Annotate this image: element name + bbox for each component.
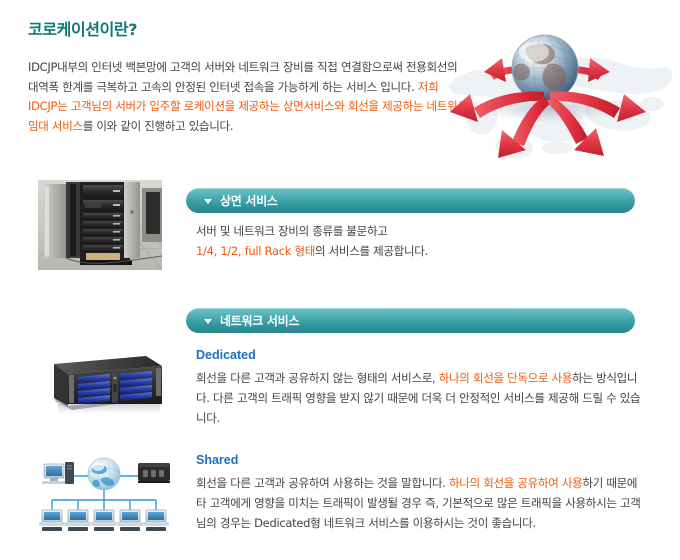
globe-sphere <box>512 35 578 101</box>
section-header-network[interactable]: 네트워크 서비스 <box>186 308 635 333</box>
dedicated-block: Dedicated 회선을 다른 고객과 공유하지 않는 형태의 서비스로, 하… <box>196 345 641 428</box>
section-header-colocation[interactable]: 상면 서비스 <box>186 188 635 213</box>
globe-node <box>88 458 120 490</box>
dedicated-text-part-1: 회선을 다른 고객과 공유하지 않는 형태의 서비스로, <box>196 371 439 385</box>
dedicated-highlight: 하나의 회선을 단독으로 사용 <box>439 371 572 385</box>
colocation-highlight: 1/4, 1/2, full Rack 형태 <box>196 244 315 258</box>
colocation-line-1: 서버 및 네트워크 장비의 종류를 불문하고 <box>196 224 388 238</box>
intro-text-part-3: 를 이와 같이 진행하고 있습니다. <box>83 119 233 133</box>
colocation-line-2-rest: 의 서비스를 제공합니다. <box>315 244 428 258</box>
shared-highlight: 하나의 회선을 공유하여 사용 <box>449 476 582 490</box>
colocation-description: 서버 및 네트워크 장비의 종류를 불문하고 1/4, 1/2, full Ra… <box>196 221 626 261</box>
shared-block: Shared 회선을 다른 고객과 공유하여 사용하는 것을 말합니다. 하나의… <box>196 450 641 533</box>
shared-heading: Shared <box>196 450 641 470</box>
intro-paragraph: IDCJP내부의 인터넷 백본망에 고객의 서버와 네트워크 장비를 직접 연결… <box>28 58 468 136</box>
shared-text-part-1: 회선을 다른 고객과 공유하여 사용하는 것을 말합니다. <box>196 476 449 490</box>
rackmount-server-photo <box>38 348 168 420</box>
section-header-label: 네트워크 서비스 <box>220 312 299 329</box>
network-topology-diagram <box>30 448 178 540</box>
globe-with-arrows-graphic <box>440 8 680 168</box>
switch-node <box>138 463 170 483</box>
section-header-label: 상면 서비스 <box>220 192 278 209</box>
chevron-down-icon <box>204 319 212 324</box>
laptop-nodes <box>39 510 169 531</box>
intro-text-part-1: IDCJP내부의 인터넷 백본망에 고객의 서버와 네트워크 장비를 직접 연결… <box>28 60 457 94</box>
chevron-down-icon <box>204 199 212 204</box>
server-rack-photo <box>38 180 162 270</box>
dedicated-heading: Dedicated <box>196 345 641 365</box>
page-title: 코로케이션이란? <box>28 16 137 40</box>
